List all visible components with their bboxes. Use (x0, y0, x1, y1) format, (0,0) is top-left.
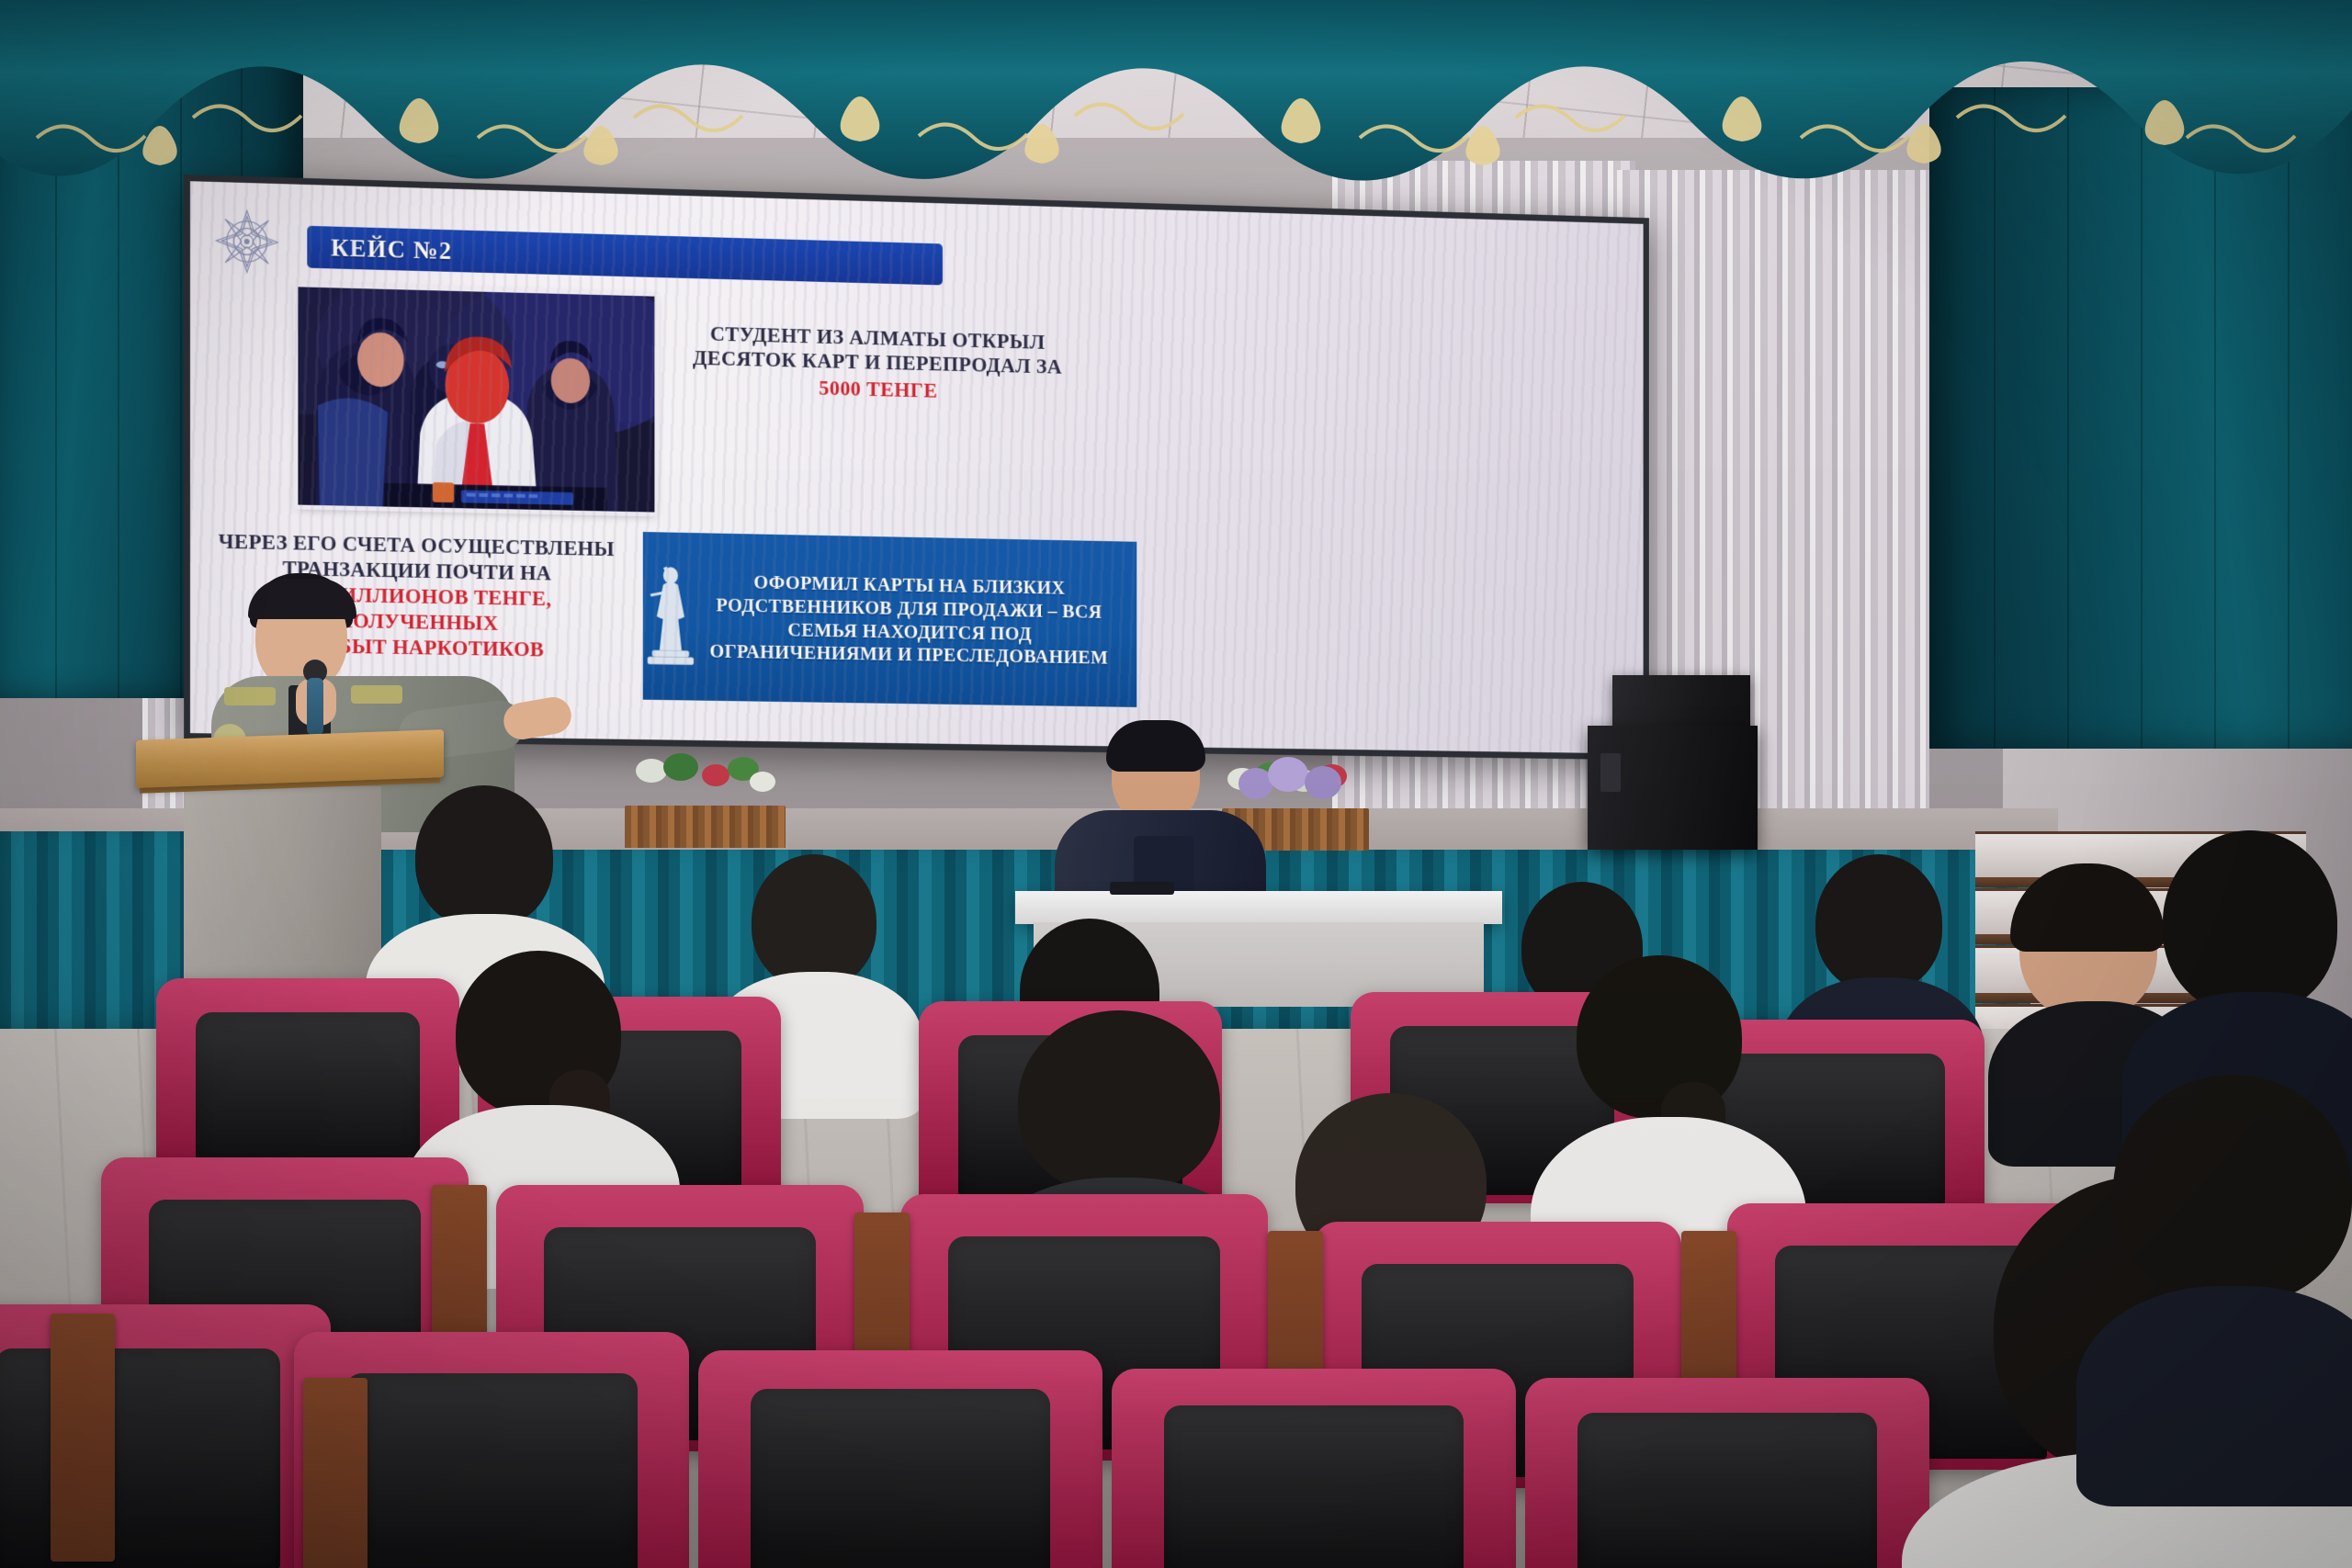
hooded-criminals-illustration-icon (298, 287, 654, 512)
presenter-epaulette-right (351, 685, 402, 704)
police-star-emblem-icon (212, 206, 282, 277)
phone-on-table (1110, 882, 1174, 895)
seat-row1-3[interactable] (698, 1350, 1102, 1568)
seat-row1-4[interactable] (1112, 1369, 1516, 1568)
student-foreground-far-right (2095, 1075, 2352, 1350)
speaker-handle (1600, 753, 1621, 792)
presenter-hair-front (248, 579, 356, 619)
student-hair (2010, 863, 2165, 952)
student-hair (2163, 830, 2337, 1014)
blue-callout-text: ОФОРМИЛ КАРТЫ НА БЛИЗКИХ РОДСТВЕННИКОВ Д… (698, 570, 1136, 671)
auditorium-scene: КЕЙС №2 (0, 0, 2352, 1568)
student-hair (752, 854, 876, 988)
slide-blue-callout: ОФОРМИЛ КАРТЫ НА БЛИЗКИХ РОДСТВЕННИКОВ Д… (643, 532, 1136, 707)
seat-row1-5[interactable] (1525, 1378, 1929, 1568)
student-hair (1815, 854, 1942, 992)
armrest-front-2 (303, 1378, 367, 1568)
presenter-epaulette-left (224, 687, 276, 705)
case-badge-label: КЕЙС №2 (331, 233, 452, 265)
slide-headline-highlight: 5000 ТЕНГЕ (679, 372, 1076, 406)
officer-hair (1106, 720, 1205, 772)
student-hair (2113, 1075, 2352, 1304)
microphone-body (307, 678, 323, 735)
student-hair (1018, 1010, 1220, 1194)
flower-planter-left (625, 751, 786, 848)
teal-pelmet-valance (0, 0, 2352, 197)
case-badge: КЕЙС №2 (307, 226, 943, 286)
slide-headline: СТУДЕНТ ИЗ АЛМАТЫ ОТКРЫЛ ДЕСЯТОК КАРТ И … (679, 321, 1076, 407)
student-hair (415, 785, 553, 929)
slide-headline-text: СТУДЕНТ ИЗ АЛМАТЫ ОТКРЫЛ ДЕСЯТОК КАРТ И … (693, 322, 1062, 378)
seat-row1-1[interactable] (0, 1304, 331, 1568)
student-uniform (2076, 1286, 2352, 1506)
lady-justice-statue-icon (643, 559, 698, 672)
student-front-right (2150, 827, 2352, 1084)
armrest-front-1 (51, 1314, 115, 1562)
slide-illustration (298, 287, 654, 512)
loudspeaker-subwoofer (1588, 726, 1758, 850)
student-row2-a (432, 951, 643, 1190)
student-row2-d (1553, 955, 1773, 1231)
